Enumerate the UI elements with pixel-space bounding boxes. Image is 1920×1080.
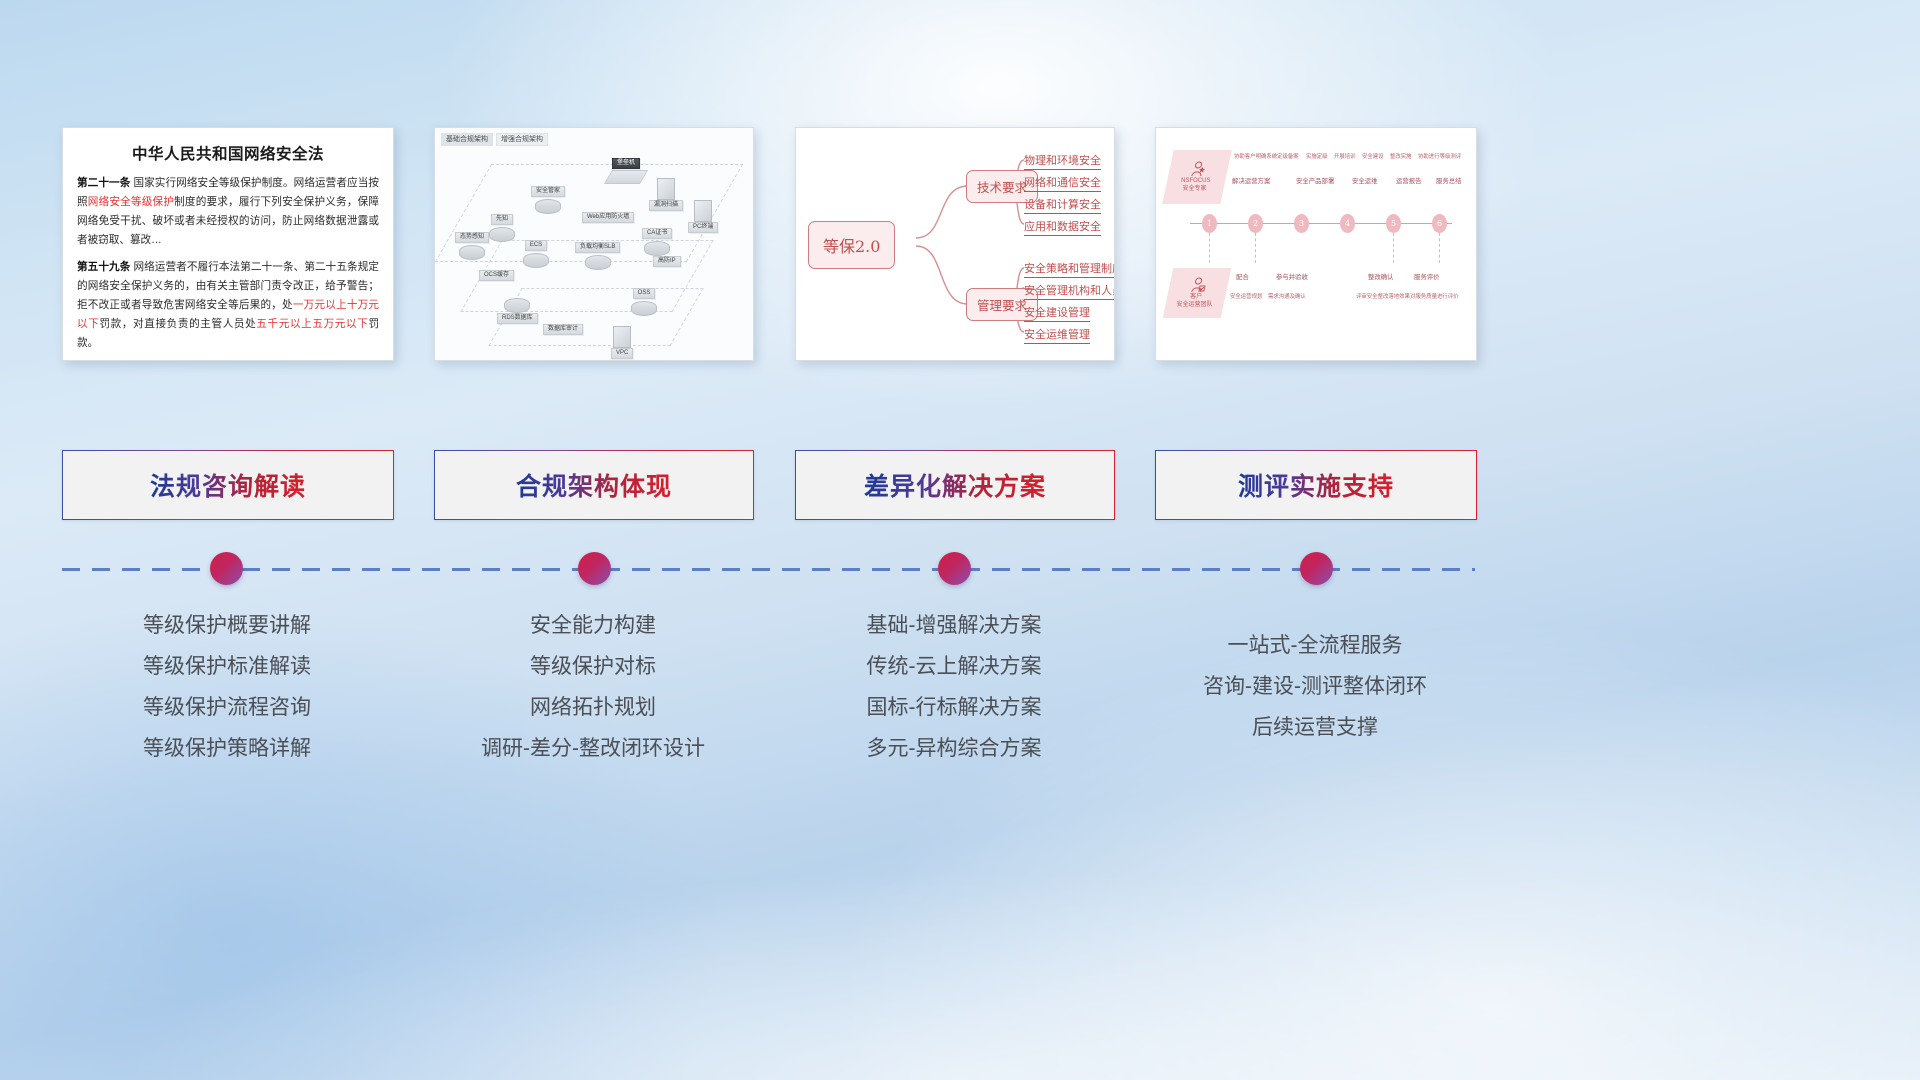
service-flow-diagram: NSFOCUS 安全专家 协助客户明确系统定级备案 实施定级 开展培训 安全建设… (1156, 128, 1476, 360)
list-item: 后续运营支撑 (1155, 707, 1475, 748)
node-label: RDS数据库 (497, 313, 538, 324)
list-item: 咨询-建设-测评整体闭环 (1155, 666, 1475, 707)
top-label-1: 实施定级 (1306, 152, 1328, 160)
cylinder-icon (459, 245, 485, 260)
node-vpc: VPC (611, 324, 633, 359)
customer-person-icon (1190, 277, 1207, 293)
bottom-sub-1: 需求沟通及确认 (1268, 292, 1306, 300)
article-59-text-mid: 罚款，对直接负责的主管人员处 (99, 318, 256, 330)
list-item: 等级保护标准解读 (62, 646, 392, 687)
step-marker-2: 2 (1248, 214, 1263, 233)
step-marker-1: 1 (1202, 214, 1217, 233)
node-bastion-host: 堡垒机 (608, 158, 644, 184)
list-item: 国标-行标解决方案 (795, 687, 1113, 728)
slide-canvas: 中华人民共和国网络安全法 第二十一条 国家实行网络安全等级保护制度。网络运营者应… (0, 0, 1920, 1080)
node-db-audit: 数据库审计 (543, 324, 583, 335)
bottom-sub-0: 安全运营规划 (1230, 292, 1262, 300)
connector-1 (1209, 233, 1210, 263)
node-label: CA证书 (642, 228, 672, 239)
law-article-59: 第五十九条 网络运营者不履行本法第二十一条、第二十五条规定的网络安全保护义务的，… (77, 258, 379, 353)
cylinder-icon (631, 301, 657, 316)
server-icon (613, 326, 631, 348)
mindmap-leaf-app-data: 应用和数据安全 (1024, 218, 1101, 236)
heading-box-differentiated-solution[interactable]: 差异化解决方案 (795, 450, 1115, 520)
bottom-label-0: 配合 (1236, 272, 1249, 281)
mindmap-root: 等保2.0 (808, 221, 895, 269)
list-item: 网络拓扑规划 (434, 687, 752, 728)
node-ca-cert: CA证书 (642, 228, 672, 256)
timeline-dot-1[interactable] (210, 552, 243, 585)
node-label: 态势感知 (455, 232, 489, 243)
heading-box-regulation-consulting[interactable]: 法规咨询解读 (62, 450, 394, 520)
heading-box-assessment-support[interactable]: 测评实施支持 (1155, 450, 1477, 520)
node-rds: RDS数据库 (497, 296, 538, 324)
node-situation-awareness: 态势感知 (455, 232, 489, 260)
mindmap-leaf-policy-system: 安全策略和管理制度 (1024, 260, 1115, 278)
cylinder-icon (489, 227, 515, 242)
node-label: 高防IP (653, 256, 681, 267)
law-article-21: 第二十一条 国家实行网络安全等级保护制度。网络运营者应当按照网络安全等级保护制度… (77, 174, 379, 250)
list-item: 等级保护策略详解 (62, 728, 392, 769)
timeline-dot-2[interactable] (578, 552, 611, 585)
architecture-tabs[interactable]: 基础合规架构 增强合规架构 (441, 133, 548, 146)
bottom-label-3: 服务评价 (1414, 272, 1440, 281)
thumbnail-cybersecurity-law[interactable]: 中华人民共和国网络安全法 第二十一条 国家实行网络安全等级保护制度。网络运营者应… (62, 127, 394, 361)
node-slb: 负载均衡SLB (575, 242, 620, 270)
stage-label-4: 服务总结 (1436, 176, 1462, 185)
cylinder-icon (644, 241, 670, 256)
list-assessment-support: 一站式-全流程服务 咨询-建设-测评整体闭环 后续运营支撑 (1155, 625, 1475, 748)
node-label: ECS (525, 240, 547, 251)
article-59-highlight-2: 五千元以上五万元以下 (256, 318, 368, 330)
top-label-3: 安全建设 (1362, 152, 1384, 160)
heading-label: 法规咨询解读 (150, 467, 306, 503)
node-label: OCS缓存 (479, 270, 514, 281)
mindmap-leaf-physical-env: 物理和环境安全 (1024, 152, 1101, 170)
list-item: 多元-异构综合方案 (795, 728, 1113, 769)
expert-ribbon: NSFOCUS 安全专家 (1162, 150, 1231, 204)
expert-person-icon (1190, 161, 1207, 177)
mindmap-leaf-device-compute: 设备和计算安全 (1024, 196, 1101, 214)
node-security-housekeeper: 安全管家 (531, 186, 565, 214)
thumbnail-compliance-architecture[interactable]: 基础合规架构 增强合规架构 态势感知 先知 安全管家 堡垒机 漏洞扫描 P (434, 127, 754, 361)
bottom-sub-2: 评审安全整改落地效果 (1356, 292, 1410, 300)
article-59-label: 第五十九条 (77, 261, 130, 273)
server-icon (657, 178, 675, 200)
list-item: 一站式-全流程服务 (1155, 625, 1475, 666)
customer-sub: 安全运营团队 (1176, 301, 1212, 309)
node-prescient: 先知 (489, 214, 515, 242)
plate-icon (604, 170, 648, 184)
heading-label: 测评实施支持 (1238, 467, 1394, 503)
mindmap-leaf-ops-mgmt: 安全运维管理 (1024, 326, 1090, 344)
stage-label-0: 解决运营方案 (1232, 176, 1270, 185)
node-pc-terminal: PC终端 (688, 198, 718, 233)
connector-5 (1393, 233, 1394, 263)
mindmap: 等保2.0 技术要求 物理和环境安全 网络和通信安全 设备和计算安全 应用和数据… (796, 128, 1114, 360)
top-label-0: 协助客户明确系统定级备案 (1234, 152, 1299, 160)
step-marker-3: 3 (1294, 214, 1309, 233)
cylinder-icon (523, 253, 549, 268)
node-label: OSS (633, 288, 656, 299)
node-label: 数据库审计 (543, 324, 583, 335)
heading-label: 差异化解决方案 (864, 467, 1046, 503)
node-ecs: ECS (523, 240, 549, 268)
list-item: 传统-云上解决方案 (795, 646, 1113, 687)
list-compliance-architecture: 安全能力构建 等级保护对标 网络拓扑规划 调研-差分-整改闭环设计 (434, 605, 752, 769)
node-vuln-scan: 漏洞扫描 (649, 176, 683, 211)
tab-enhanced-architecture[interactable]: 增强合规架构 (496, 133, 548, 146)
stage-label-1: 安全产品部署 (1296, 176, 1334, 185)
node-oss: OSS (631, 288, 657, 316)
node-label: 堡垒机 (612, 158, 640, 169)
step-track (1190, 223, 1452, 224)
timeline-dot-3[interactable] (938, 552, 971, 585)
connector-6 (1439, 233, 1440, 263)
node-label: 安全管家 (531, 186, 565, 197)
top-label-5: 协助进行等级测评 (1418, 152, 1461, 160)
list-item: 等级保护对标 (434, 646, 752, 687)
heading-box-compliance-architecture[interactable]: 合规架构体现 (434, 450, 754, 520)
mindmap-leaf-construction-mgmt: 安全建设管理 (1024, 304, 1090, 322)
bottom-sub-3: 对服务质量进行评价 (1410, 292, 1459, 300)
top-label-2: 开展培训 (1334, 152, 1356, 160)
list-regulation-consulting: 等级保护概要讲解 等级保护标准解读 等级保护流程咨询 等级保护策略详解 (62, 605, 392, 769)
node-label: 先知 (491, 214, 513, 225)
step-marker-6: 6 (1432, 214, 1447, 233)
timeline-dot-4[interactable] (1300, 552, 1333, 585)
stage-label-2: 安全运维 (1352, 176, 1378, 185)
thumbnail-mindmap-dengbao[interactable]: 等保2.0 技术要求 物理和环境安全 网络和通信安全 设备和计算安全 应用和数据… (795, 127, 1115, 361)
cylinder-icon (504, 298, 530, 313)
cylinder-icon (585, 255, 611, 270)
article-21-highlight: 网络安全等级保护 (88, 196, 174, 208)
connector-2 (1255, 233, 1256, 263)
stage-label-3: 运营报告 (1396, 176, 1422, 185)
node-label: Web应用防火墙 (582, 212, 634, 223)
expert-brand: NSFOCUS (1181, 177, 1210, 185)
expert-role: 安全专家 (1182, 185, 1206, 193)
step-marker-4: 4 (1340, 214, 1355, 233)
list-item: 基础-增强解决方案 (795, 605, 1113, 646)
heading-label: 合规架构体现 (516, 467, 672, 503)
thumbnail-nsfocus-service-flow[interactable]: NSFOCUS 安全专家 协助客户明确系统定级备案 实施定级 开展培训 安全建设… (1155, 127, 1477, 361)
architecture-diagram: 基础合规架构 增强合规架构 态势感知 先知 安全管家 堡垒机 漏洞扫描 P (435, 128, 753, 360)
node-anti-ddos-ip: 高防IP (653, 256, 681, 267)
law-title: 中华人民共和国网络安全法 (77, 142, 379, 164)
list-item: 等级保护概要讲解 (62, 605, 392, 646)
cylinder-icon (535, 199, 561, 214)
mindmap-leaf-org-personnel: 安全管理机构和人员 (1024, 282, 1115, 300)
article-21-label: 第二十一条 (77, 177, 130, 189)
bottom-label-1: 参与并验收 (1276, 272, 1308, 281)
law-document: 中华人民共和国网络安全法 第二十一条 国家实行网络安全等级保护制度。网络运营者应… (63, 128, 393, 360)
bottom-label-2: 整改确认 (1368, 272, 1394, 281)
list-item: 调研-差分-整改闭环设计 (434, 728, 752, 769)
customer-role: 客户 (1190, 293, 1202, 301)
node-label: 漏洞扫描 (649, 200, 683, 211)
node-label: PC终端 (688, 222, 718, 233)
timeline-dashed-line (62, 568, 1475, 571)
mindmap-leaf-network-comm: 网络和通信安全 (1024, 174, 1101, 192)
top-label-4: 整改实施 (1390, 152, 1412, 160)
node-ocs-cache: OCS缓存 (479, 270, 514, 281)
list-item: 等级保护流程咨询 (62, 687, 392, 728)
list-differentiated-solution: 基础-增强解决方案 传统-云上解决方案 国标-行标解决方案 多元-异构综合方案 (795, 605, 1113, 769)
tab-basic-architecture[interactable]: 基础合规架构 (441, 133, 493, 146)
step-marker-5: 5 (1386, 214, 1401, 233)
server-icon (694, 200, 712, 222)
node-label: 负载均衡SLB (575, 242, 620, 253)
node-label: VPC (611, 348, 633, 359)
customer-ribbon: 客户 安全运营团队 (1163, 268, 1232, 318)
list-item: 安全能力构建 (434, 605, 752, 646)
node-waf: Web应用防火墙 (582, 212, 634, 223)
